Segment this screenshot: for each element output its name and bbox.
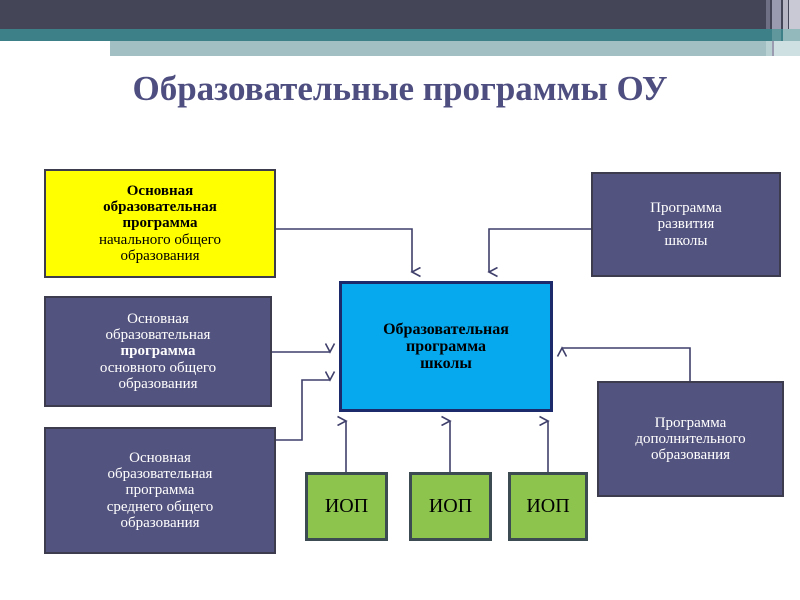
node-line: образования [120,248,199,264]
edge-development-to-center [489,229,591,272]
node-line: образования [120,515,199,531]
node-basic-general-education-program[interactable]: Основная образовательная программа основ… [44,296,272,407]
node-school-development-program[interactable]: Программа развития школы [591,172,781,277]
node-line: программа [406,338,486,355]
node-line: образовательная [106,327,211,343]
edge-primary-to-center [276,229,412,272]
node-line: программа [123,215,198,231]
node-line: основного общего [100,360,216,376]
node-supplementary-education-program[interactable]: Программа дополнительного образования [597,381,784,497]
node-line: Программа [650,200,722,216]
node-iop-3[interactable]: ИОП [508,472,588,541]
node-primary-education-program[interactable]: Основная образовательная программа начал… [44,169,276,278]
node-line: дополнительного [635,431,745,447]
node-line: образовательная [103,199,217,215]
node-line: Образовательная [383,321,509,338]
diagram-canvas: Основная образовательная программа начал… [0,0,800,600]
node-line: программа [126,482,195,498]
node-line: школы [665,233,708,249]
node-line: программа [121,343,196,359]
node-line: Основная [127,311,189,327]
node-line: Основная [127,183,193,199]
edge-secondary-to-center [276,380,330,440]
node-line: развития [658,216,715,232]
node-line: Основная [129,450,191,466]
node-iop-2[interactable]: ИОП [409,472,492,541]
node-line: Программа [655,415,727,431]
node-line: ИОП [526,496,569,518]
node-line: среднего общего [107,499,214,515]
node-line: ИОП [429,496,472,518]
node-line: школы [420,355,472,372]
node-school-education-program[interactable]: Образовательная программа школы [339,281,553,412]
presentation-slide: Образовательные программы ОУ [0,0,800,600]
node-secondary-general-education-program[interactable]: Основная образовательная программа средн… [44,427,276,554]
node-line: образования [118,376,197,392]
node-line: образования [651,447,730,463]
node-line: образовательная [108,466,213,482]
node-line: ИОП [325,496,368,518]
node-line: начального общего [99,232,221,248]
edge-supplementary-to-center [562,348,690,381]
node-iop-1[interactable]: ИОП [305,472,388,541]
